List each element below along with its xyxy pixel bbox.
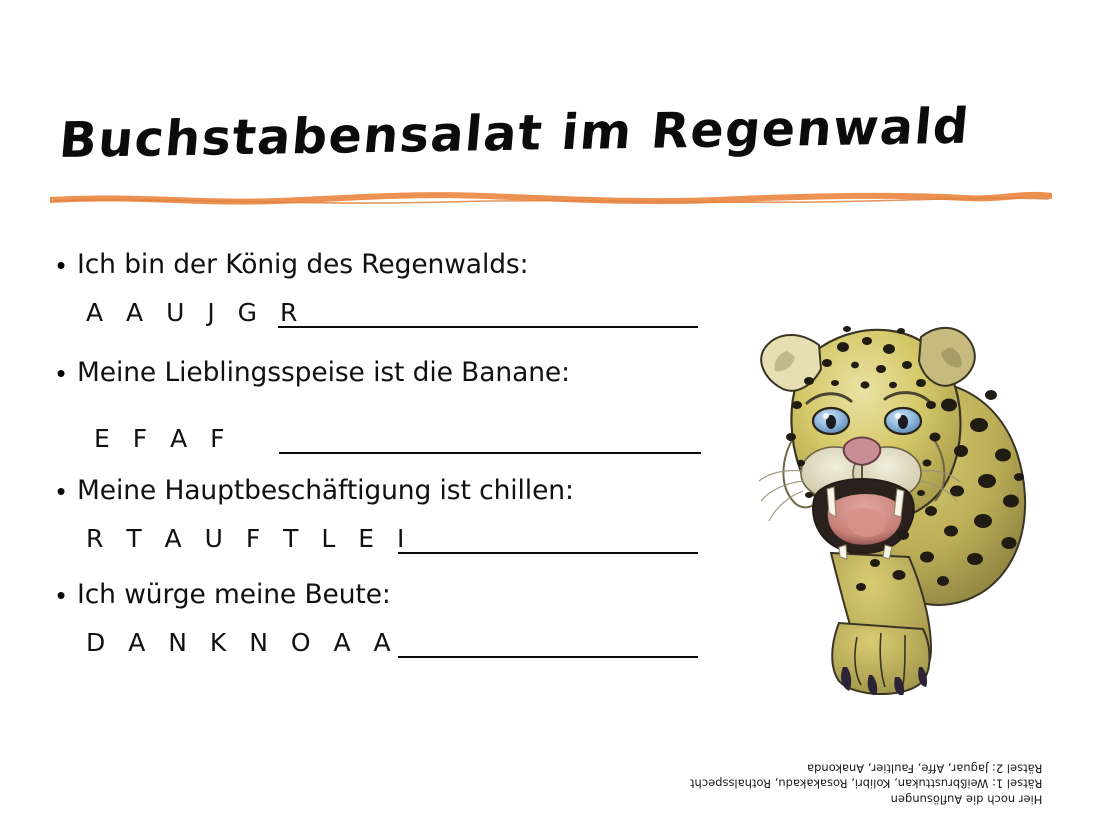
puzzle-prompt: Meine Hauptbeschäftigung ist chillen:: [77, 474, 574, 508]
spacer: [56, 560, 716, 578]
solutions-heading: Hier noch die Auflösungen: [690, 791, 1042, 807]
puzzle-answer-row: D A N K N O A A: [56, 612, 716, 658]
puzzle-answer-row: E F A F: [56, 408, 716, 454]
solutions-footer: Hier noch die Auflösungen Rätsel 1: Weiß…: [690, 760, 1042, 807]
puzzle-answer-row: A A U J G R: [56, 282, 716, 328]
puzzle-prompt-row: • Meine Lieblingsspeise ist die Banane:: [56, 356, 716, 390]
scrambled-letters: E F A F: [94, 424, 279, 454]
answer-blank-line[interactable]: [278, 298, 698, 328]
solution-line-2: Rätsel 2: Jaguar, Affe, Faultier, Anakon…: [690, 760, 1042, 776]
scrambled-letters: A A U J G R: [86, 298, 278, 328]
worksheet-page: Buchstabensalat im Regenwald • Ich bin d…: [0, 0, 1100, 824]
spacer: [56, 334, 716, 356]
puzzle-prompt: Ich bin der König des Regenwalds:: [77, 248, 528, 282]
answer-blank-line[interactable]: [398, 628, 698, 658]
scrambled-letters: D A N K N O A A: [86, 628, 398, 658]
jaguar-illustration: [735, 285, 1055, 695]
puzzle-item: • Meine Hauptbeschäftigung ist chillen: …: [56, 474, 716, 554]
puzzle-list: • Ich bin der König des Regenwalds: A A …: [56, 248, 716, 664]
puzzle-prompt-row: • Ich bin der König des Regenwalds:: [56, 248, 716, 282]
scrambled-letters: R T A U F T L E I: [86, 524, 398, 554]
puzzle-prompt-row: • Ich würge meine Beute:: [56, 578, 716, 612]
answer-blank-line[interactable]: [279, 424, 701, 454]
puzzle-prompt: Meine Lieblingsspeise ist die Banane:: [77, 356, 570, 390]
answer-blank-line[interactable]: [398, 524, 698, 554]
puzzle-prompt-row: • Meine Hauptbeschäftigung ist chillen:: [56, 474, 716, 508]
puzzle-item: • Ich würge meine Beute: D A N K N O A A: [56, 578, 716, 658]
bullet-marker: •: [56, 356, 66, 390]
puzzle-answer-row: R T A U F T L E I: [56, 508, 716, 554]
page-title: Buchstabensalat im Regenwald: [55, 98, 963, 190]
spacer: [56, 460, 716, 474]
bullet-marker: •: [56, 248, 66, 282]
bullet-marker: •: [56, 578, 66, 612]
puzzle-item: • Meine Lieblingsspeise ist die Banane: …: [56, 356, 716, 454]
puzzle-prompt: Ich würge meine Beute:: [77, 578, 391, 612]
solution-line-1: Rätsel 1: Weißbrusttukan, Kolibri, Rosak…: [690, 775, 1042, 791]
bullet-marker: •: [56, 474, 66, 508]
puzzle-item: • Ich bin der König des Regenwalds: A A …: [56, 248, 716, 328]
